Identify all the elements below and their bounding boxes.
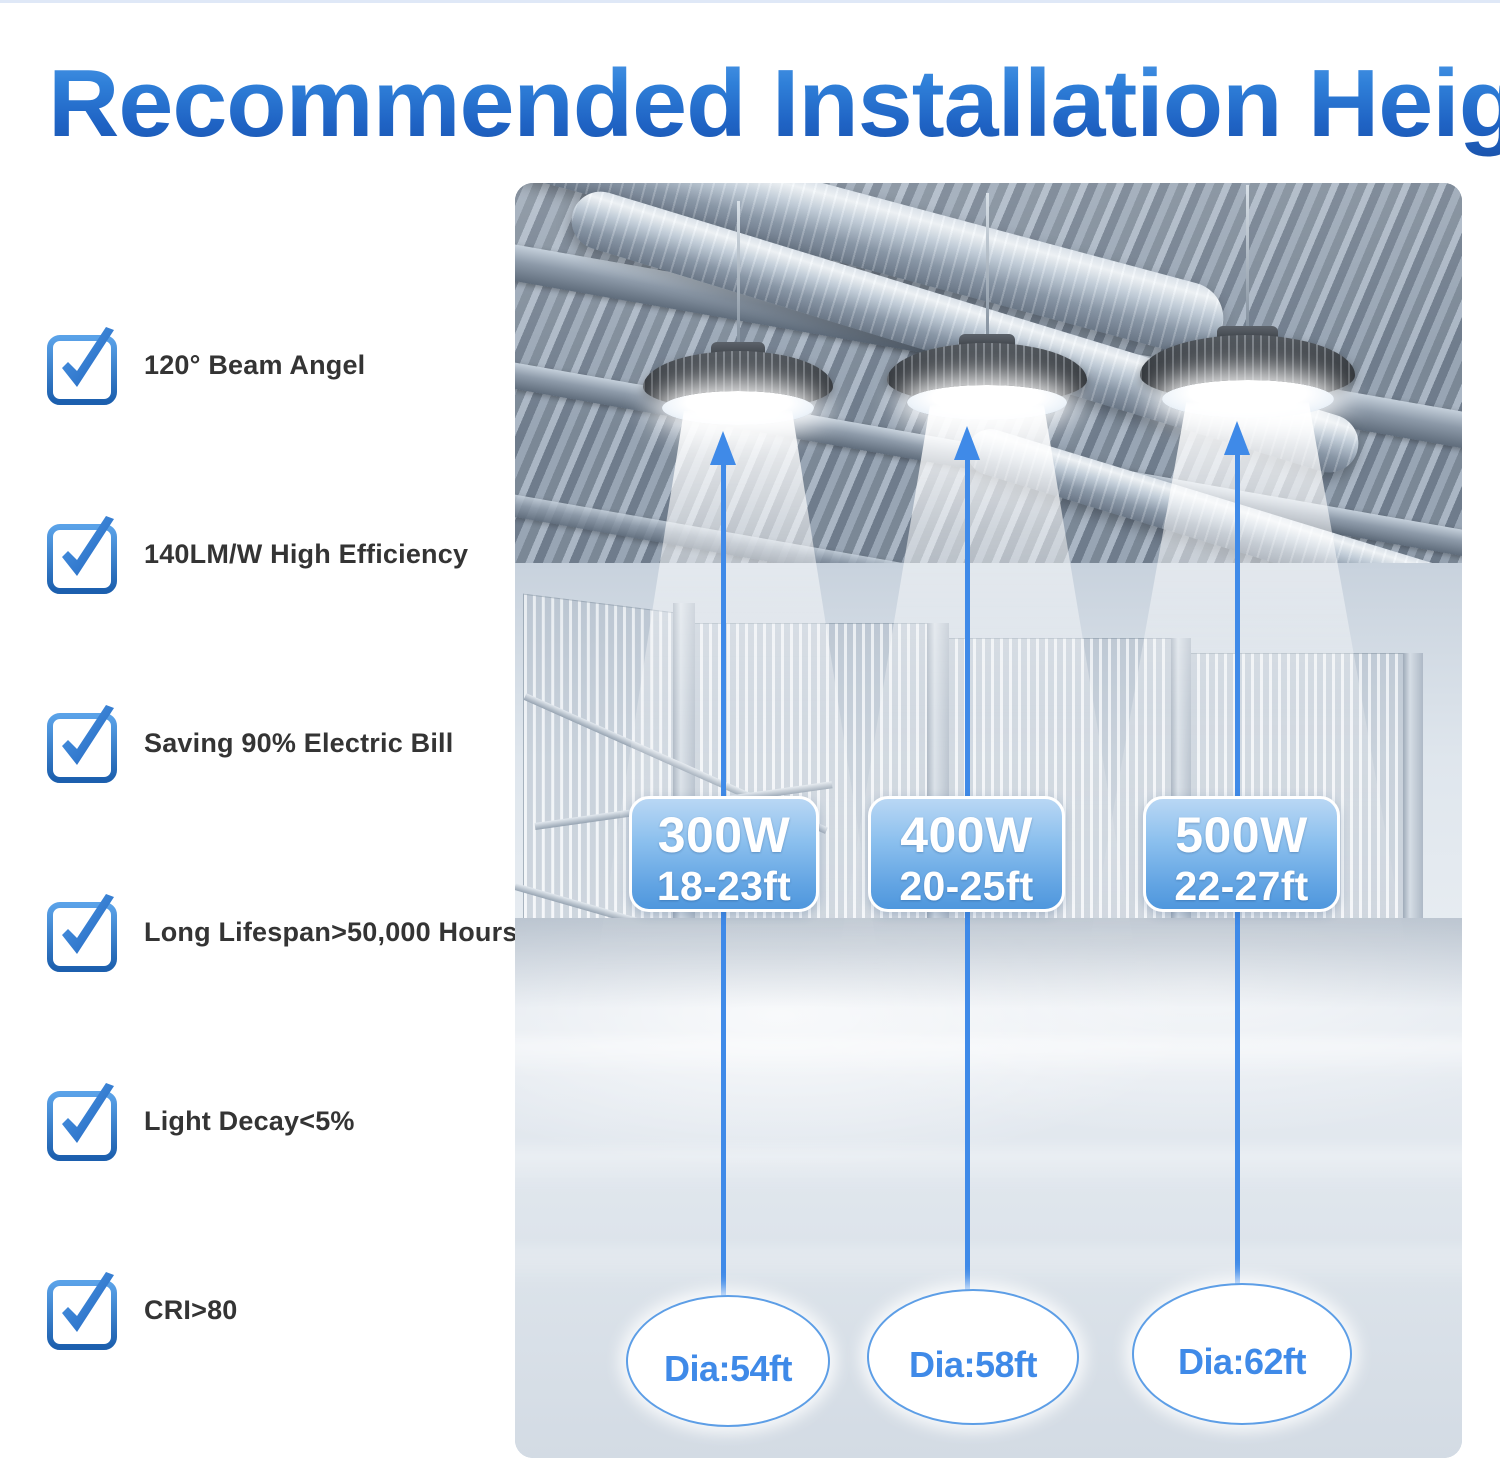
checkbox-checked-icon xyxy=(44,1275,120,1347)
list-item: Saving 90% Electric Bill xyxy=(44,711,494,776)
hanging-cable xyxy=(986,193,989,348)
list-item: Long Lifespan>50,000 Hours xyxy=(44,900,494,965)
wattage-badge: 400W 20-25ft xyxy=(868,796,1065,912)
checkbox-checked-icon xyxy=(44,897,120,969)
page-title: Recommended Installation Height xyxy=(48,49,1500,159)
floor-sheen xyxy=(515,1148,1462,1188)
product-infographic: Recommended Installation Height xyxy=(0,0,1500,1473)
mounting-height-value: 20-25ft xyxy=(885,863,1048,909)
coverage-diameter-badge: Dia:62ft xyxy=(1132,1283,1352,1425)
wattage-badge: 300W 18-23ft xyxy=(629,796,819,912)
coverage-diameter-value: Dia:62ft xyxy=(1178,1341,1306,1383)
list-item: 120° Beam Angel xyxy=(44,333,494,398)
arrow-up-head-icon xyxy=(954,426,980,460)
list-item: 140LM/W High Efficiency xyxy=(44,522,494,587)
wattage-value: 400W xyxy=(885,807,1048,863)
coverage-diameter-value: Dia:58ft xyxy=(909,1344,1037,1386)
feature-label: Light Decay<5% xyxy=(144,1106,355,1137)
coverage-diameter-badge: Dia:54ft xyxy=(626,1295,830,1427)
coverage-diameter-badge: Dia:58ft xyxy=(867,1289,1079,1425)
list-item: Light Decay<5% xyxy=(44,1089,494,1154)
floor-sheen xyxy=(515,1038,1462,1078)
hanging-cable xyxy=(1246,185,1249,340)
high-bay-light xyxy=(643,351,833,451)
floor-sheen xyxy=(515,1248,1462,1288)
arrow-up-head-icon xyxy=(710,431,736,465)
checkbox-checked-icon xyxy=(44,1086,120,1158)
list-item: CRI>80 xyxy=(44,1278,494,1343)
wattage-value: 300W xyxy=(646,807,802,863)
hanging-cable xyxy=(737,201,740,356)
high-bay-light xyxy=(887,343,1087,447)
checkbox-checked-icon xyxy=(44,708,120,780)
wattage-badge: 500W 22-27ft xyxy=(1143,796,1340,912)
wattage-value: 500W xyxy=(1160,807,1323,863)
mounting-height-value: 18-23ft xyxy=(646,863,802,909)
warehouse-photo: 300W 18-23ft 400W 20-25ft 500W 22-27ft D… xyxy=(515,183,1462,1458)
feature-label: Saving 90% Electric Bill xyxy=(144,728,453,759)
feature-list: 120° Beam Angel 140LM/W High Efficiency … xyxy=(44,333,494,1343)
mounting-height-value: 22-27ft xyxy=(1160,863,1323,909)
feature-label: CRI>80 xyxy=(144,1295,238,1326)
arrow-up-head-icon xyxy=(1224,421,1250,455)
feature-label: 120° Beam Angel xyxy=(144,350,365,381)
coverage-diameter-value: Dia:54ft xyxy=(664,1348,792,1390)
checkbox-checked-icon xyxy=(44,519,120,591)
feature-label: Long Lifespan>50,000 Hours xyxy=(144,917,518,948)
feature-label: 140LM/W High Efficiency xyxy=(144,539,468,570)
checkbox-checked-icon xyxy=(44,330,120,402)
